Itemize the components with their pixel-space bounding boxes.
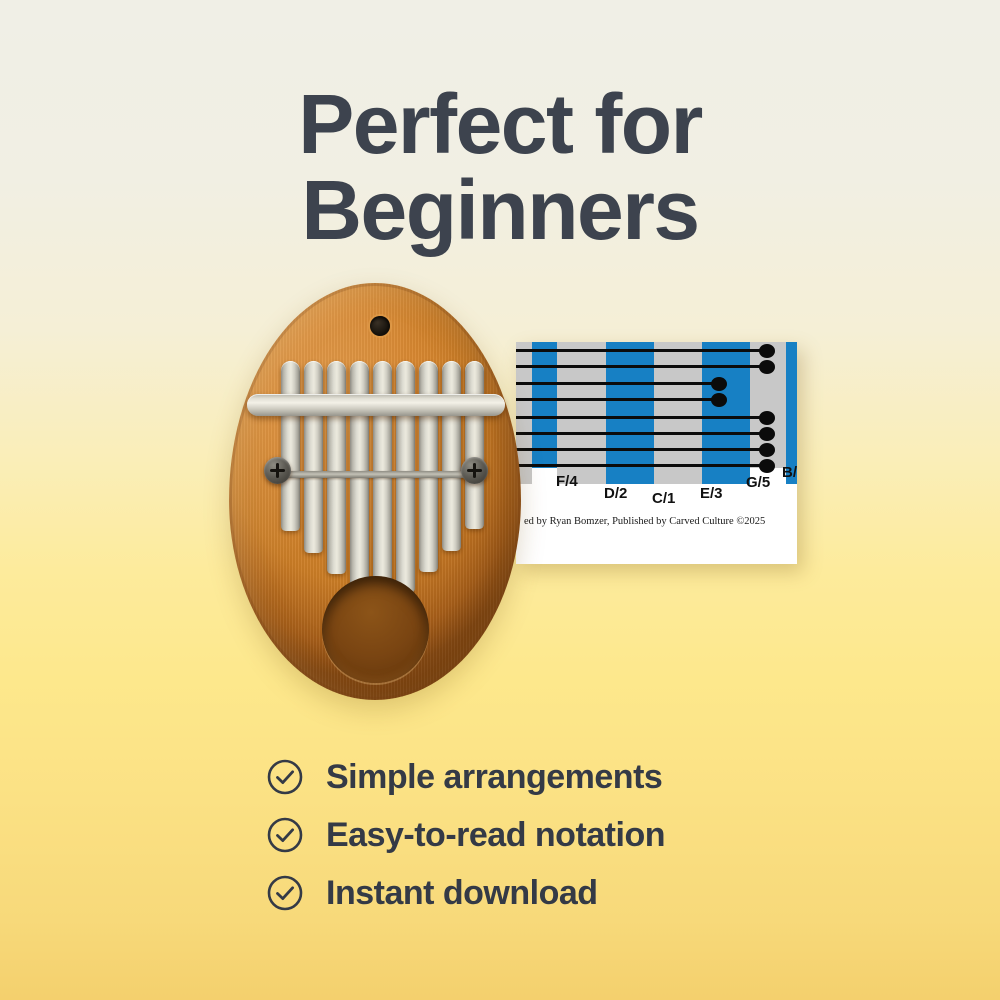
- rail-bar: [271, 471, 481, 478]
- kalimba-tine-1: [281, 361, 300, 531]
- tablature-card: F/4 D/2 C/1 E/3 G/5 B/7 ed by Ryan Bomze…: [516, 342, 797, 564]
- check-circle-icon: [266, 816, 304, 854]
- staff-line-7: [516, 448, 766, 451]
- list-item: Easy-to-read notation: [266, 806, 826, 864]
- headline-line-2: Beginners: [0, 168, 1000, 254]
- tab-column-c1: [654, 342, 702, 484]
- kalimba-instrument: [229, 283, 521, 700]
- check-circle-icon: [266, 874, 304, 912]
- notehead-4: [711, 393, 727, 407]
- note-label-f4: F/4: [556, 473, 578, 490]
- tab-column-d2: [606, 342, 654, 484]
- screw-icon-right: [461, 457, 488, 484]
- promo-graphic: Perfect for Beginners: [0, 0, 1000, 1000]
- checklist-label-2: Easy-to-read notation: [326, 818, 665, 852]
- staff-line-4: [516, 398, 718, 401]
- staff-line-2: [516, 365, 766, 368]
- checklist-label-1: Simple arrangements: [326, 760, 662, 794]
- notehead-3: [711, 377, 727, 391]
- staff-line-8: [516, 464, 766, 467]
- notehead-7: [759, 443, 775, 457]
- list-item: Instant download: [266, 864, 826, 922]
- staff-line-3: [516, 382, 718, 385]
- tablature-grid: [516, 342, 797, 468]
- notehead-2: [759, 360, 775, 374]
- sound-hole: [322, 576, 429, 683]
- kalimba-tine-7: [419, 361, 438, 572]
- note-label-g5: G/5: [746, 474, 770, 491]
- tab-column-f4-body: [557, 342, 606, 484]
- check-circle-icon: [266, 758, 304, 796]
- checklist-label-3: Instant download: [326, 876, 598, 910]
- screw-icon-left: [264, 457, 291, 484]
- kalimba-tine-9: [465, 361, 484, 529]
- note-label-d2: D/2: [604, 485, 627, 502]
- headline-line-1: Perfect for: [0, 82, 1000, 168]
- list-item: Simple arrangements: [266, 748, 826, 806]
- kalimba-tine-2: [304, 361, 323, 553]
- notehead-5: [759, 411, 775, 425]
- staff-line-1: [516, 349, 766, 352]
- staff-line-5: [516, 416, 766, 419]
- staff-line-6: [516, 432, 766, 435]
- tablature-credit: ed by Ryan Bomzer, Published by Carved C…: [524, 516, 765, 527]
- kalimba-tine-8: [442, 361, 461, 551]
- tab-column-b7: [786, 342, 797, 484]
- tablature-note-labels: F/4 D/2 C/1 E/3 G/5 B/7: [516, 468, 797, 508]
- feature-checklist: Simple arrangements Easy-to-read notatio…: [266, 748, 826, 922]
- tab-column-e3: [702, 342, 750, 484]
- notehead-6: [759, 427, 775, 441]
- kalimba-tine-3: [327, 361, 346, 574]
- page-title: Perfect for Beginners: [0, 82, 1000, 253]
- bridge-bar: [247, 394, 505, 416]
- note-label-c1: C/1: [652, 490, 675, 507]
- notehead-1: [759, 344, 775, 358]
- note-label-e3: E/3: [700, 485, 723, 502]
- note-label-b7: B/7: [782, 464, 797, 481]
